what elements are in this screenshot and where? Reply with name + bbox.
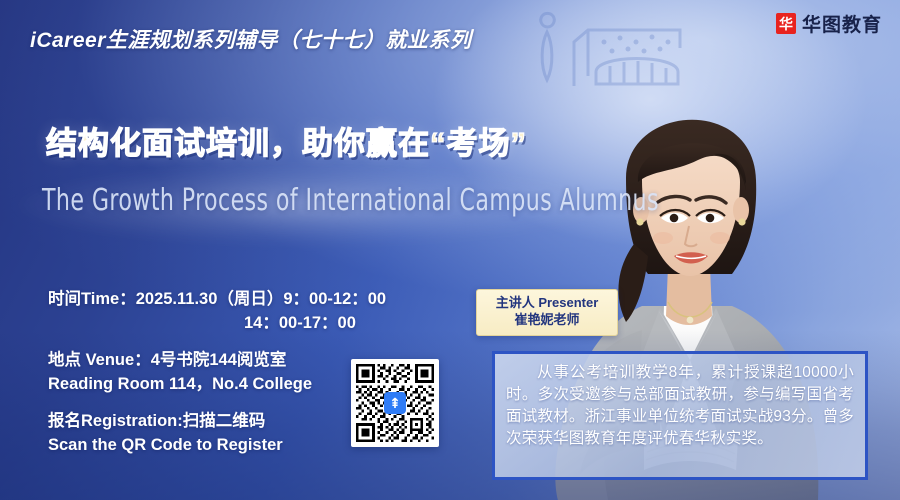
registration-line-1: 报名Registration:扫描二维码 (48, 410, 386, 434)
venue-line-1: 地点 Venue：4号书院144阅览室 (48, 349, 386, 373)
icareer-watermark-icon (528, 6, 698, 92)
presenter-name: 崔艳妮老师 (483, 311, 611, 329)
venue-block: 地点 Venue：4号书院144阅览室 Reading Room 114，No.… (48, 349, 386, 397)
presenter-bio-text: 从事公考培训教学8年，累计授课超10000小时。多次受邀参与总部面试教研，参与编… (506, 362, 854, 450)
page-subtitle: The Growth Process of International Camp… (42, 183, 659, 218)
registration-block: 报名Registration:扫描二维码 Scan the QR Code to… (48, 410, 386, 458)
page-title: 结构化面试培训，助你赢在“考场” (46, 118, 527, 163)
qr-code[interactable]: ⇞ (351, 359, 439, 447)
brand-logo: 华 华图教育 (776, 10, 882, 37)
venue-line-2: Reading Room 114，No.4 College (48, 373, 386, 397)
time-block: 时间Time：2025.11.30（周日）9：00-12：00 14：00-17… (48, 288, 386, 336)
brand-mark-icon: 华 (776, 13, 796, 34)
time-line-2: 14：00-17：00 (48, 312, 386, 336)
brand-name: 华图教育 (802, 10, 882, 37)
qr-center-logo-icon: ⇞ (384, 392, 406, 414)
registration-line-2: Scan the QR Code to Register (48, 434, 386, 458)
presenter-label: 主讲人 Presenter (483, 295, 611, 311)
poster-canvas: iCareer生涯规划系列辅导（七十七）就业系列 华 华图教育 结构化面试培训，… (0, 0, 900, 500)
series-kicker: iCareer生涯规划系列辅导（七十七）就业系列 (30, 24, 471, 54)
event-details: 时间Time：2025.11.30（周日）9：00-12：00 14：00-17… (48, 288, 386, 471)
time-line-1: 时间Time：2025.11.30（周日）9：00-12：00 (48, 288, 386, 312)
presenter-bio-box: 从事公考培训教学8年，累计授课超10000小时。多次受邀参与总部面试教研，参与编… (492, 351, 868, 480)
presenter-badge: 主讲人 Presenter 崔艳妮老师 (476, 289, 618, 336)
